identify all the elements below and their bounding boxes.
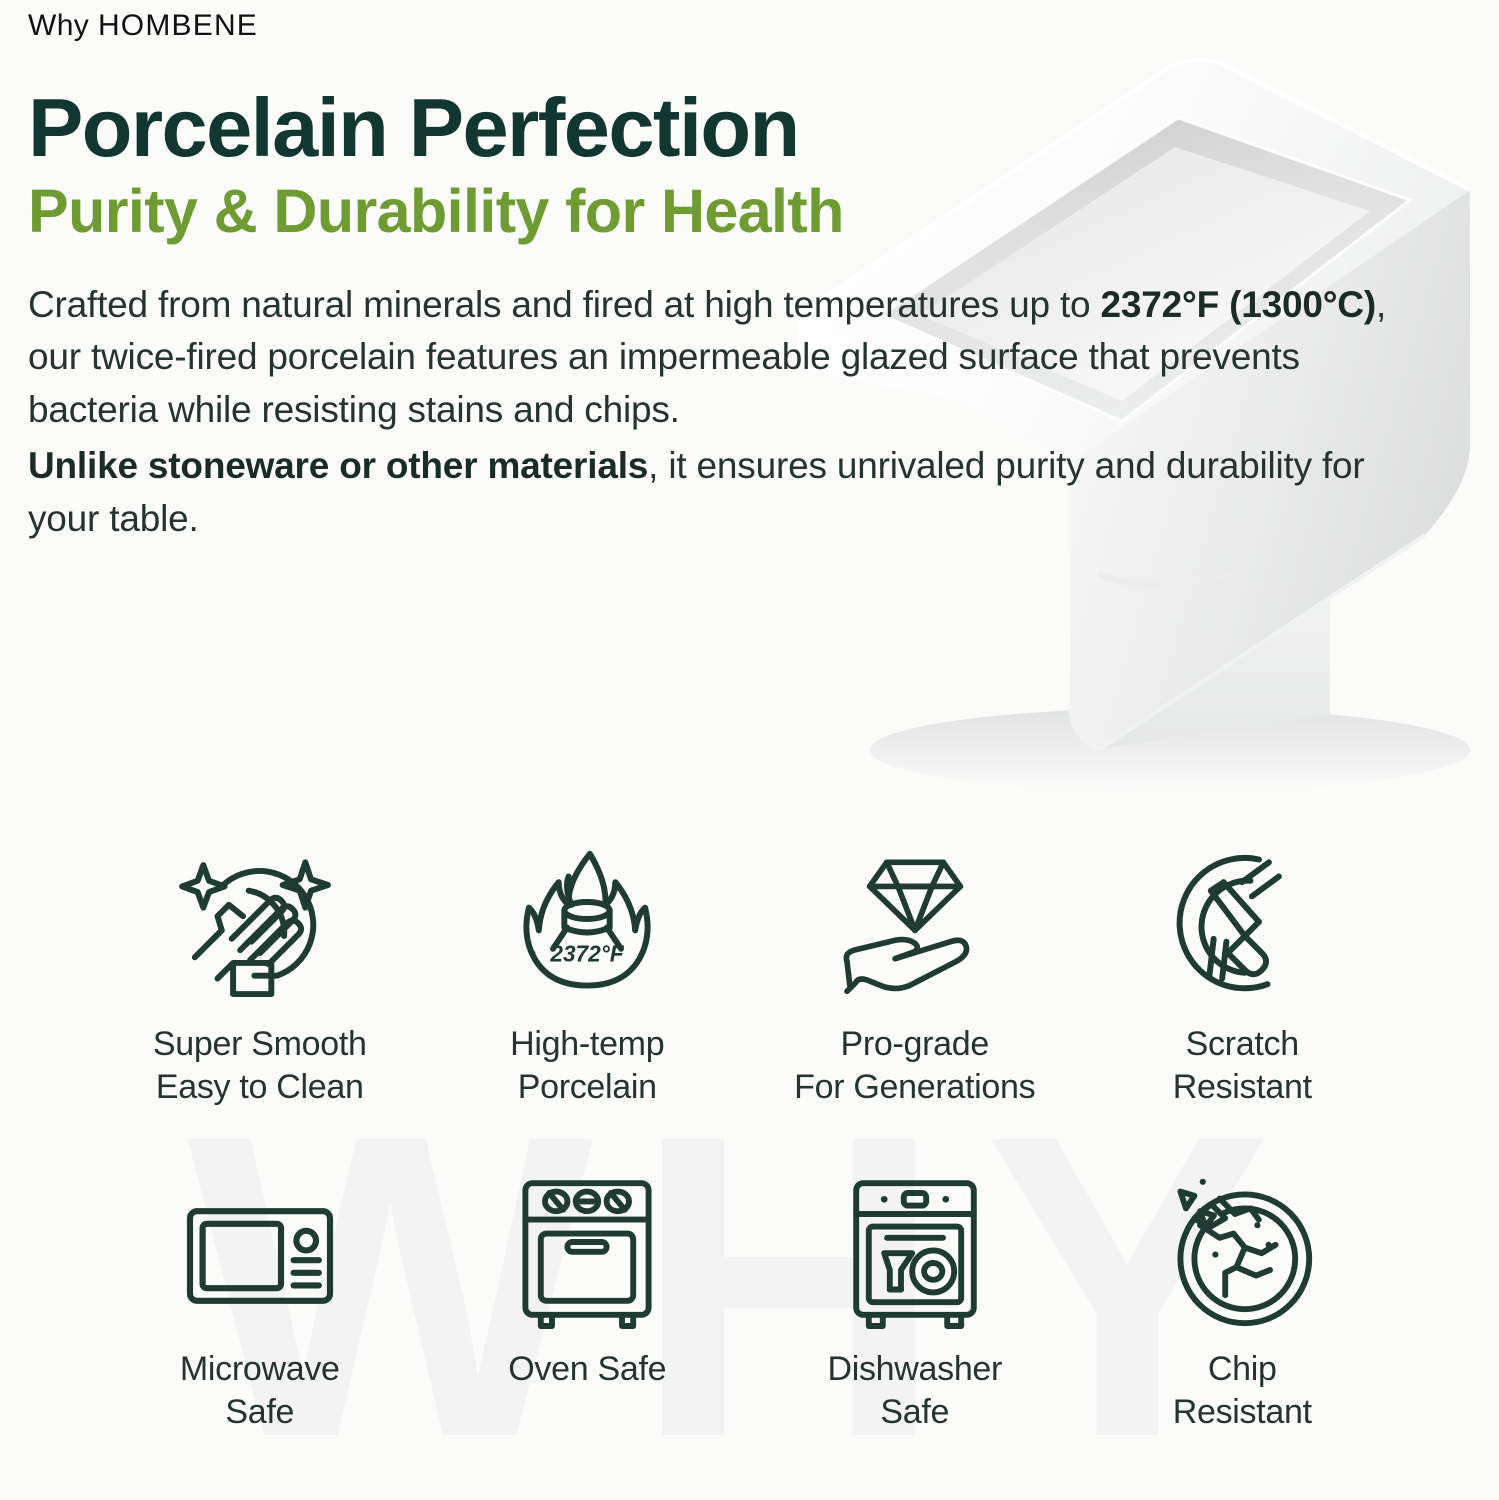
feature-chip-resistant: Chip Resistant [1079,1172,1407,1500]
feature-label: Microwave Safe [180,1348,340,1434]
description-paragraph-2: Unlike stoneware or other materials, it … [28,440,1418,545]
feature-label: Chip Resistant [1173,1348,1312,1434]
page-subtitle: Purity & Durability for Health [28,179,1430,245]
description-paragraph-1: Crafted from natural minerals and fired … [28,279,1418,437]
feature-icon-grid: Super Smooth Easy to Clean [96,840,1406,1500]
dishwasher-icon [831,1172,999,1340]
feature-label: Oven Safe [508,1348,666,1391]
flame-temperature-label: 2372°F [550,941,625,967]
feature-microwave-safe: Microwave Safe [96,1172,424,1500]
hero-copy-block: Why HOMBENE Porcelain Perfection Purity … [0,0,1430,545]
flame-temperature-icon: 2372°F [502,840,672,1015]
feature-super-smooth-easy-to-clean: Super Smooth Easy to Clean [96,840,424,1172]
feature-high-temp-porcelain: 2372°F High-temp Porcelain [424,840,752,1172]
feature-label: Dishwasher Safe [827,1348,1002,1434]
paragraph-1-text-before-bold: Crafted from natural minerals and fired … [28,284,1100,325]
feature-label: High-temp Porcelain [510,1023,664,1109]
sparkle-wipe-hand-icon [175,840,345,1015]
feature-oven-safe: Oven Safe [424,1172,752,1500]
feature-dishwasher-safe: Dishwasher Safe [751,1172,1079,1500]
eyebrow-prefix: Why [28,9,98,42]
microwave-icon [176,1172,344,1340]
brand-eyebrow: Why HOMBENE [28,8,1430,44]
infographic-page: WHY [0,0,1499,1500]
oven-icon [503,1172,671,1340]
knife-on-plate-icon [1157,840,1327,1015]
firing-temperature-value: 2372°F (1300°C) [1100,284,1375,325]
brand-name: HOMBENE [98,9,258,42]
feature-scratch-resistant: Scratch Resistant [1079,840,1407,1172]
feature-label: Pro-grade For Generations [794,1023,1035,1109]
feature-label: Scratch Resistant [1173,1023,1312,1109]
feature-pro-grade-for-generations: Pro-grade For Generations [751,840,1079,1172]
comparison-lead-in: Unlike stoneware or other materials [28,445,648,486]
page-title: Porcelain Perfection [28,86,1430,171]
feature-label: Super Smooth Easy to Clean [153,1023,367,1109]
diamond-in-hand-icon [830,840,1000,1015]
cracked-plate-icon [1158,1172,1326,1340]
